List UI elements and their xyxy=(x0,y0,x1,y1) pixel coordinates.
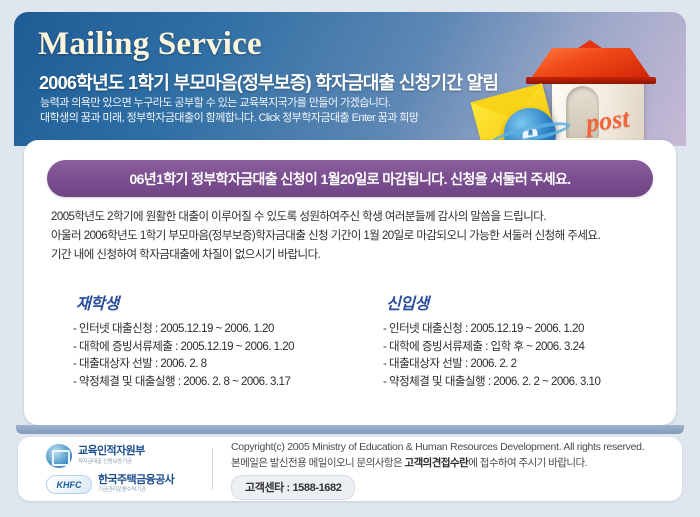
column-heading: 재학생 xyxy=(76,290,354,314)
header-banner: Mailing Service 2006학년도 1학기 부모마음(정부보증) 학… xyxy=(14,12,686,146)
post-label: post xyxy=(584,103,631,138)
header-description-line-1: 능력과 의욕만 있으면 누구라도 공부할 수 있는 교육복지국가를 만들어 가겠… xyxy=(40,96,418,111)
column-heading: 신입생 xyxy=(386,290,664,314)
logo-name: 한국주택금융공사 xyxy=(98,475,174,487)
logo-tagline: 기금관리운용수탁기관 xyxy=(98,488,174,494)
copyright-text: Copyright(c) 2005 Ministry of Education … xyxy=(231,439,682,455)
logo-tagline: 학자금대출 신용보증기금 xyxy=(78,460,145,466)
list-item: - 대학에 증빙서류제출 : 입학 후 ~ 2006. 3.24 xyxy=(383,339,664,357)
deadline-banner-text: 06년1학기 정부학자금대출 신청이 1월20일로 마감됩니다. 신청을 서둘러… xyxy=(129,169,570,189)
header-description: 능력과 의욕만 있으면 누구라도 공부할 수 있는 교육복지국가를 만들어 가겠… xyxy=(40,96,418,126)
house-roof-edge-icon xyxy=(526,77,656,84)
body-line-1: 2005학년도 2학기에 원활한 대출이 이루어질 수 있도록 성원하여주신 학… xyxy=(51,208,656,227)
schedule-columns: 재학생 - 인터넷 대출신청 : 2005.12.19 ~ 2006. 1.20… xyxy=(44,290,664,391)
footer-card: 교육인적자원부 학자금대출 신용보증기금 KHFC 한국주택금융공사 기금관리운… xyxy=(18,437,682,501)
body-line-3: 기간 내에 신청하여 학자금대출에 차질이 없으시기 바랍니다. xyxy=(51,246,656,265)
ministry-seal-icon xyxy=(46,444,72,468)
list-item: - 약정체결 및 대출실행 : 2006. 2. 8 ~ 2006. 3.17 xyxy=(73,374,354,392)
post-office-illustration: post xyxy=(444,14,686,146)
footer-logos: 교육인적자원부 학자금대출 신용보증기금 KHFC 한국주택금융공사 기금관리운… xyxy=(18,444,208,494)
footer-divider xyxy=(212,448,213,490)
logo-khfc: KHFC 한국주택금융공사 기금관리운용수탁기관 xyxy=(46,475,208,494)
footer-text-block: Copyright(c) 2005 Ministry of Education … xyxy=(231,439,682,500)
page-title: Mailing Service xyxy=(38,26,262,63)
header-description-line-2: 대학생의 꿈과 미래, 정부학자금대출이 함께합니다. Click 정부학자금대… xyxy=(40,111,418,126)
notice-suffix: 에 접수하여 주시기 바랍니다. xyxy=(468,457,587,469)
header-subtitle: 2006학년도 1학기 부모마음(정부보증) 학자금대출 신청기간 알림 xyxy=(39,69,498,95)
list-item: - 대학에 증빙서류제출 : 2005.12.19 ~ 2006. 1.20 xyxy=(73,339,354,357)
list-item: - 대출대상자 선발 : 2006. 2. 8 xyxy=(73,356,354,374)
notice-prefix: 본메일은 발신전용 메일이오니 문의사항은 xyxy=(231,457,404,469)
main-content-card: 06년1학기 정부학자금대출 신청이 1월20일로 마감됩니다. 신청을 서둘러… xyxy=(24,140,676,425)
logo-ministry-of-education: 교육인적자원부 학자금대출 신용보증기금 xyxy=(46,444,208,468)
body-paragraph: 2005학년도 2학기에 원활한 대출이 이루어질 수 있도록 성원하여주신 학… xyxy=(51,208,656,265)
schedule-list: - 인터넷 대출신청 : 2005.12.19 ~ 2006. 1.20 - 대… xyxy=(73,321,354,391)
deadline-banner: 06년1학기 정부학자금대출 신청이 1월20일로 마감됩니다. 신청을 서둘러… xyxy=(47,160,653,197)
call-center-badge: 고객센타 : 1588-1682 xyxy=(231,475,355,500)
schedule-column-freshman: 신입생 - 인터넷 대출신청 : 2005.12.19 ~ 2006. 1.20… xyxy=(354,290,664,391)
notice-highlight[interactable]: 고객의견접수란 xyxy=(404,457,468,469)
section-divider xyxy=(16,425,684,434)
notice-text: 본메일은 발신전용 메일이오니 문의사항은 고객의견접수란에 접수하여 주시기 … xyxy=(231,455,682,471)
list-item: - 인터넷 대출신청 : 2005.12.19 ~ 2006. 1.20 xyxy=(383,321,664,339)
khfc-mark-icon: KHFC xyxy=(46,475,92,494)
logo-name: 교육인적자원부 xyxy=(78,446,145,458)
list-item: - 대출대상자 선발 : 2006. 2. 2 xyxy=(383,356,664,374)
list-item: - 인터넷 대출신청 : 2005.12.19 ~ 2006. 1.20 xyxy=(73,321,354,339)
body-line-2: 아울러 2006학년도 1학기 부모마음(정부보증)학자금대출 신청 기간이 1… xyxy=(51,227,656,246)
schedule-list: - 인터넷 대출신청 : 2005.12.19 ~ 2006. 1.20 - 대… xyxy=(383,321,664,391)
list-item: - 약정체결 및 대출실행 : 2006. 2. 2 ~ 2006. 3.10 xyxy=(383,374,664,392)
schedule-column-enrolled: 재학생 - 인터넷 대출신청 : 2005.12.19 ~ 2006. 1.20… xyxy=(44,290,354,391)
